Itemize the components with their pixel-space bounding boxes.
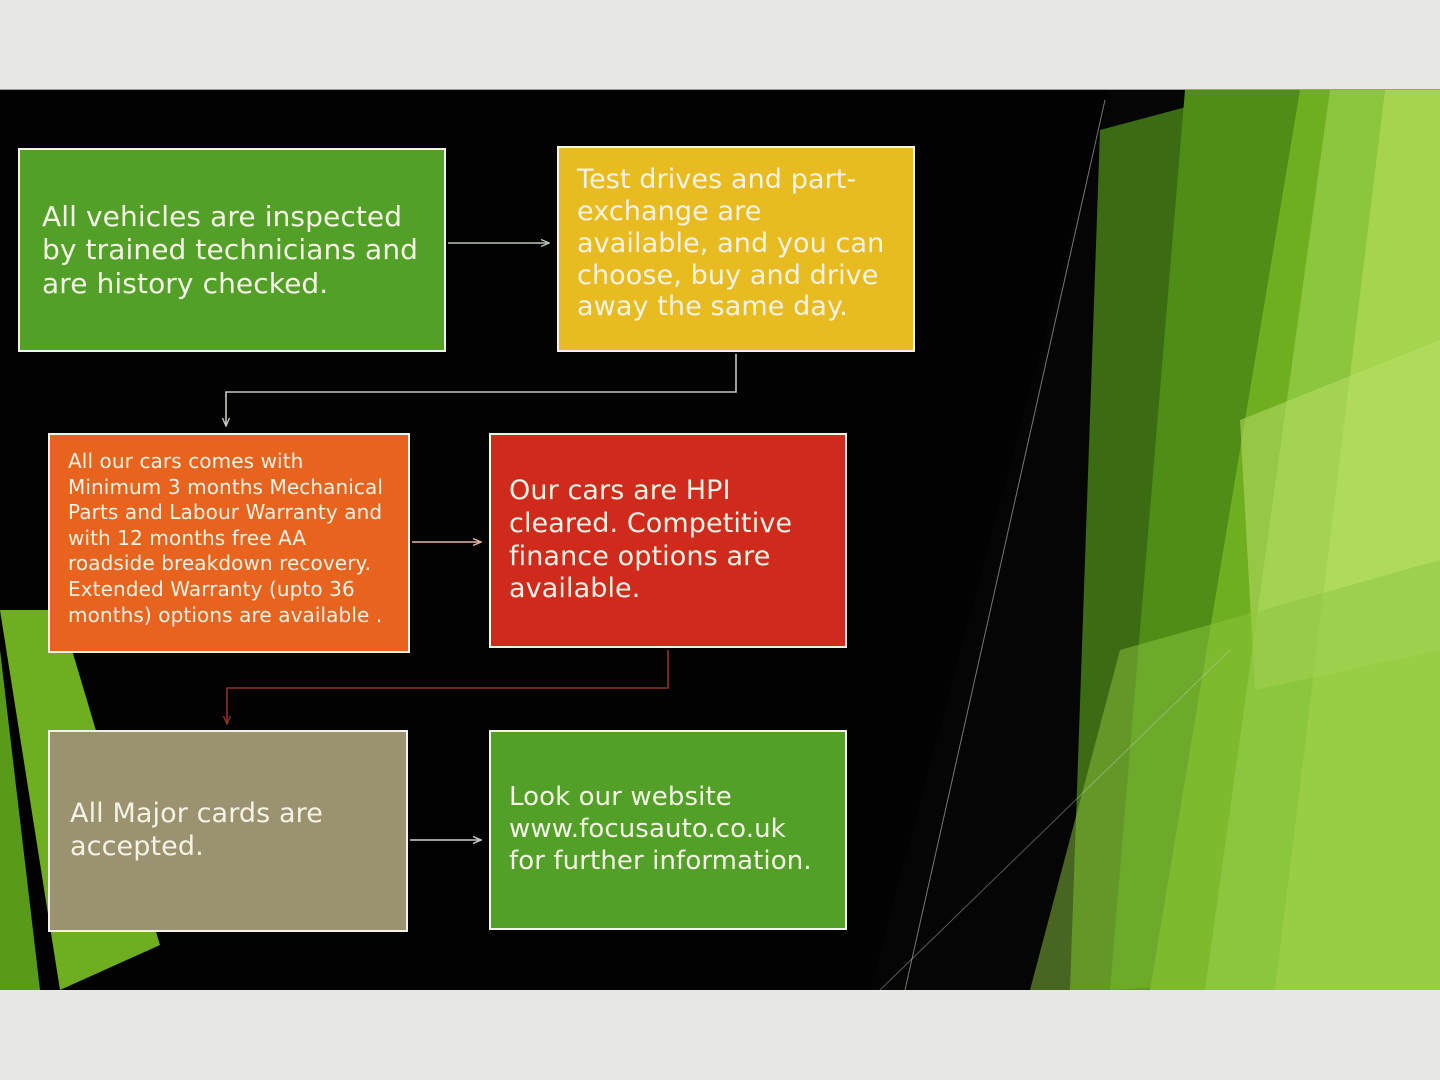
box-hpi-finance[interactable]: Our cars are HPI cleared. Competitive fi… bbox=[489, 433, 847, 648]
box-website-text: Look our website www.focusauto.co.uk for… bbox=[491, 782, 845, 877]
letterbox-bottom bbox=[0, 990, 1440, 1080]
box-major-cards[interactable]: All Major cards are accepted. bbox=[48, 730, 408, 932]
box-test-drives-text: Test drives and part-exchange are availa… bbox=[559, 148, 913, 323]
box-vehicles-inspected-text: All vehicles are inspected by trained te… bbox=[20, 200, 444, 299]
presentation-slide: All vehicles are inspected by trained te… bbox=[0, 90, 1440, 990]
box-hpi-finance-text: Our cars are HPI cleared. Competitive fi… bbox=[491, 475, 845, 607]
box-warranty-text: All our cars comes with Minimum 3 months… bbox=[50, 435, 408, 628]
box-major-cards-text: All Major cards are accepted. bbox=[50, 798, 406, 864]
box-website[interactable]: Look our website www.focusauto.co.uk for… bbox=[489, 730, 847, 930]
box-vehicles-inspected[interactable]: All vehicles are inspected by trained te… bbox=[18, 148, 446, 352]
letterbox-top bbox=[0, 0, 1440, 90]
slide-viewer: All vehicles are inspected by trained te… bbox=[0, 0, 1440, 1080]
box-test-drives[interactable]: Test drives and part-exchange are availa… bbox=[557, 146, 915, 352]
box-warranty[interactable]: All our cars comes with Minimum 3 months… bbox=[48, 433, 410, 653]
